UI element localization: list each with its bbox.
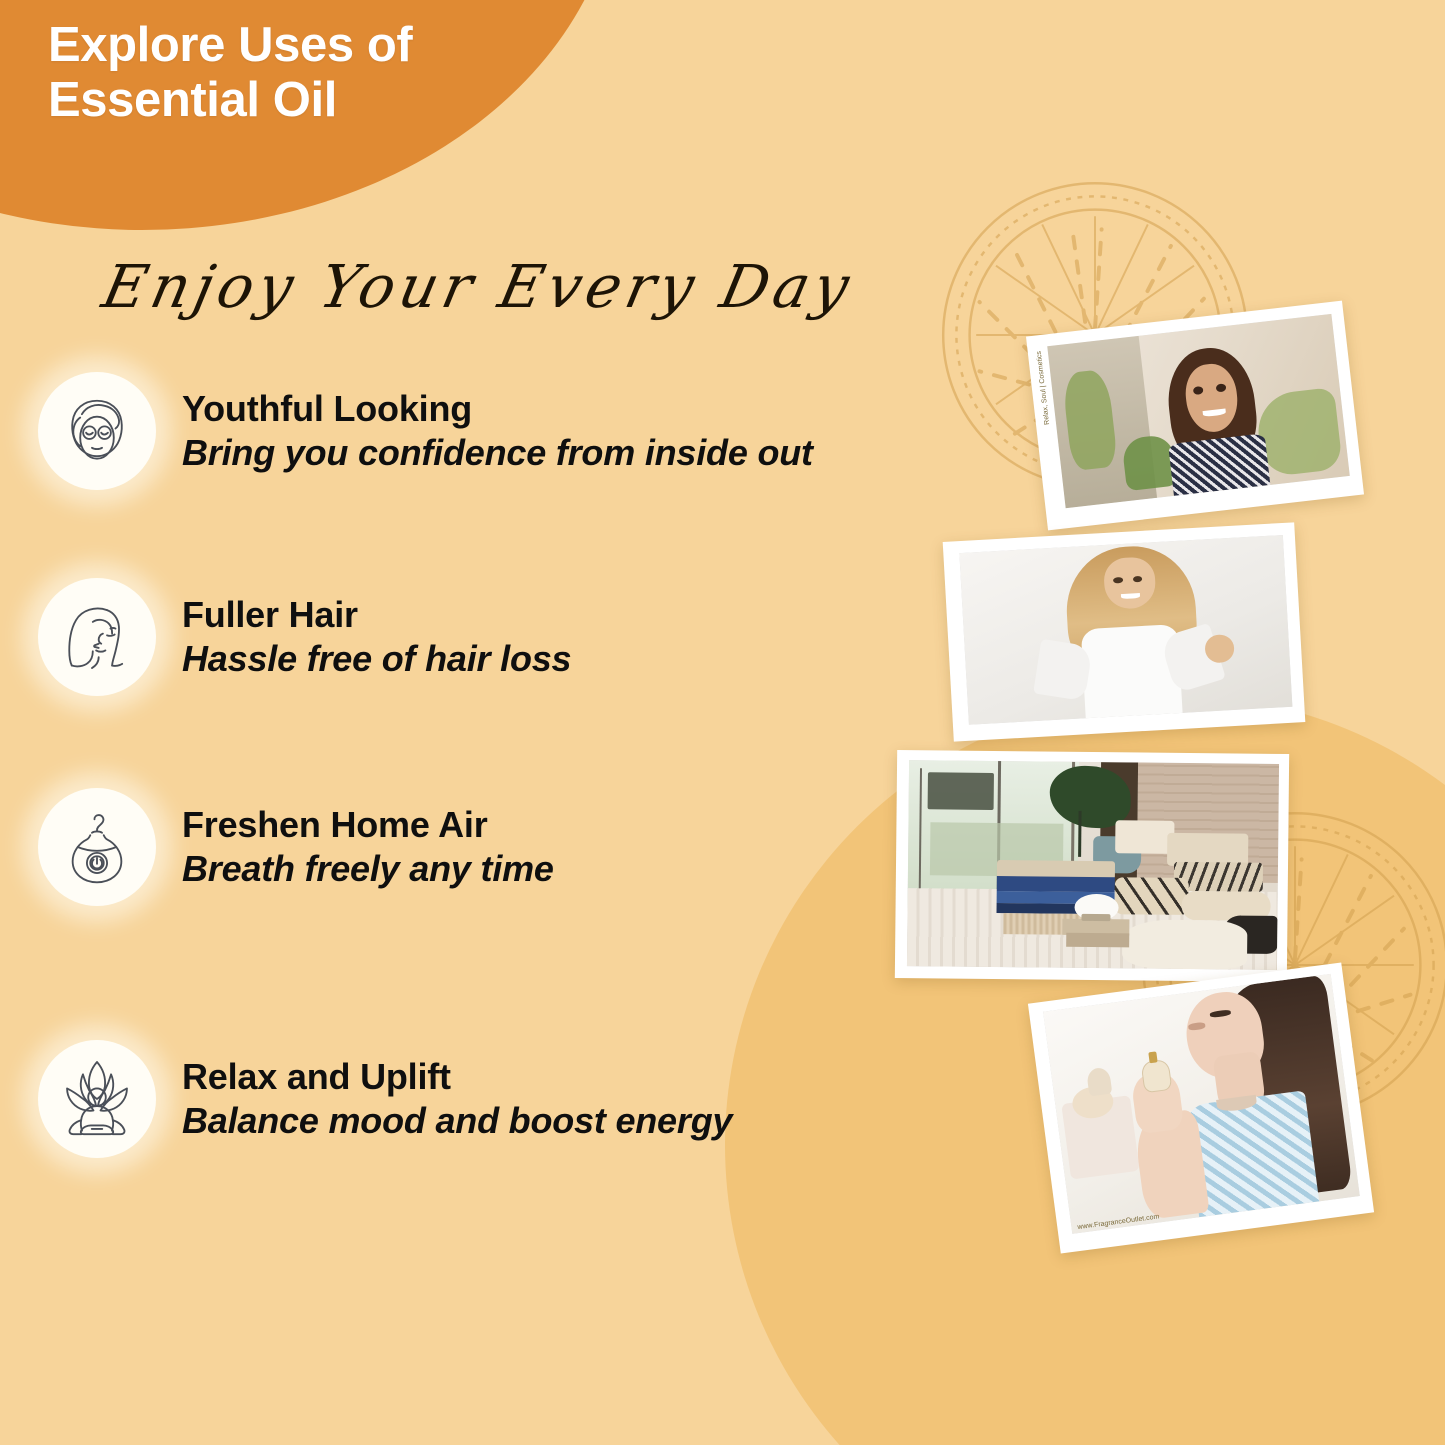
photo-image [907, 760, 1279, 970]
feature-item-freshen-home-air: Freshen Home Air Breath freely any time [38, 788, 554, 906]
photo-perfume-woman: www.FragranceOutlet.com [1028, 962, 1374, 1253]
feature-text-block: Youthful Looking Bring you confidence fr… [182, 388, 813, 474]
feature-title: Youthful Looking [182, 388, 813, 430]
feature-item-fuller-hair: Fuller Hair Hassle free of hair loss [38, 578, 571, 696]
feature-title: Relax and Uplift [182, 1056, 732, 1098]
photo-image [1047, 314, 1350, 508]
feature-text-block: Freshen Home Air Breath freely any time [182, 804, 554, 890]
aroma-diffuser-icon [38, 788, 156, 906]
infographic-canvas: Explore Uses of Essential Oil Enjoy Your… [0, 0, 1445, 1445]
feature-subtitle: Hassle free of hair loss [182, 637, 571, 680]
page-title-line-2: Essential Oil [48, 73, 608, 128]
page-title-line-1: Explore Uses of [48, 18, 608, 73]
photo-image [959, 535, 1292, 725]
photo-smiling-woman: Relax, Soul | Cosmetics [1026, 301, 1364, 531]
page-title: Explore Uses of Essential Oil [48, 18, 608, 128]
photo-image [1043, 974, 1360, 1234]
tagline: Enjoy Your Every Day [97, 252, 860, 321]
feature-title: Fuller Hair [182, 594, 571, 636]
feature-item-relax-and-uplift: Relax and Uplift Balance mood and boost … [38, 1040, 732, 1158]
feature-subtitle: Bring you confidence from inside out [182, 431, 813, 474]
feature-subtitle: Breath freely any time [182, 847, 554, 890]
feature-text-block: Relax and Uplift Balance mood and boost … [182, 1056, 732, 1142]
feature-title: Freshen Home Air [182, 804, 554, 846]
lotus-meditation-icon [38, 1040, 156, 1158]
feature-subtitle: Balance mood and boost energy [182, 1099, 732, 1142]
feature-item-youthful-looking: Youthful Looking Bring you confidence fr… [38, 372, 813, 490]
face-mask-icon [38, 372, 156, 490]
photo-boho-living-room [895, 750, 1289, 982]
feature-text-block: Fuller Hair Hassle free of hair loss [182, 594, 571, 680]
long-hair-profile-icon [38, 578, 156, 696]
photo-blonde-hair-woman [943, 522, 1306, 741]
